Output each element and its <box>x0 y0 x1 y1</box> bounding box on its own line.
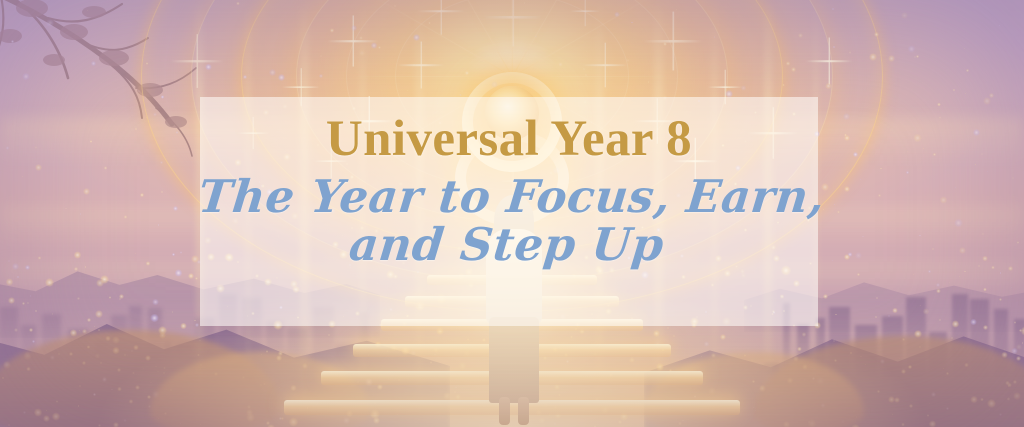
figure-leg-right <box>518 397 529 425</box>
text-overlay-panel: Universal Year 8 The Year to Focus, Earn… <box>200 97 818 326</box>
subtitle-line-2: and Step Up <box>191 223 822 267</box>
figure-skirt <box>489 317 539 403</box>
page-subtitle: The Year to Focus, Earn, and Step Up <box>191 175 827 267</box>
universal-year-8-banner: Universal Year 8 The Year to Focus, Earn… <box>0 0 1024 427</box>
subtitle-line-1: The Year to Focus, Earn, <box>196 175 827 219</box>
page-title: Universal Year 8 <box>326 113 692 165</box>
figure-leg-left <box>499 397 510 425</box>
